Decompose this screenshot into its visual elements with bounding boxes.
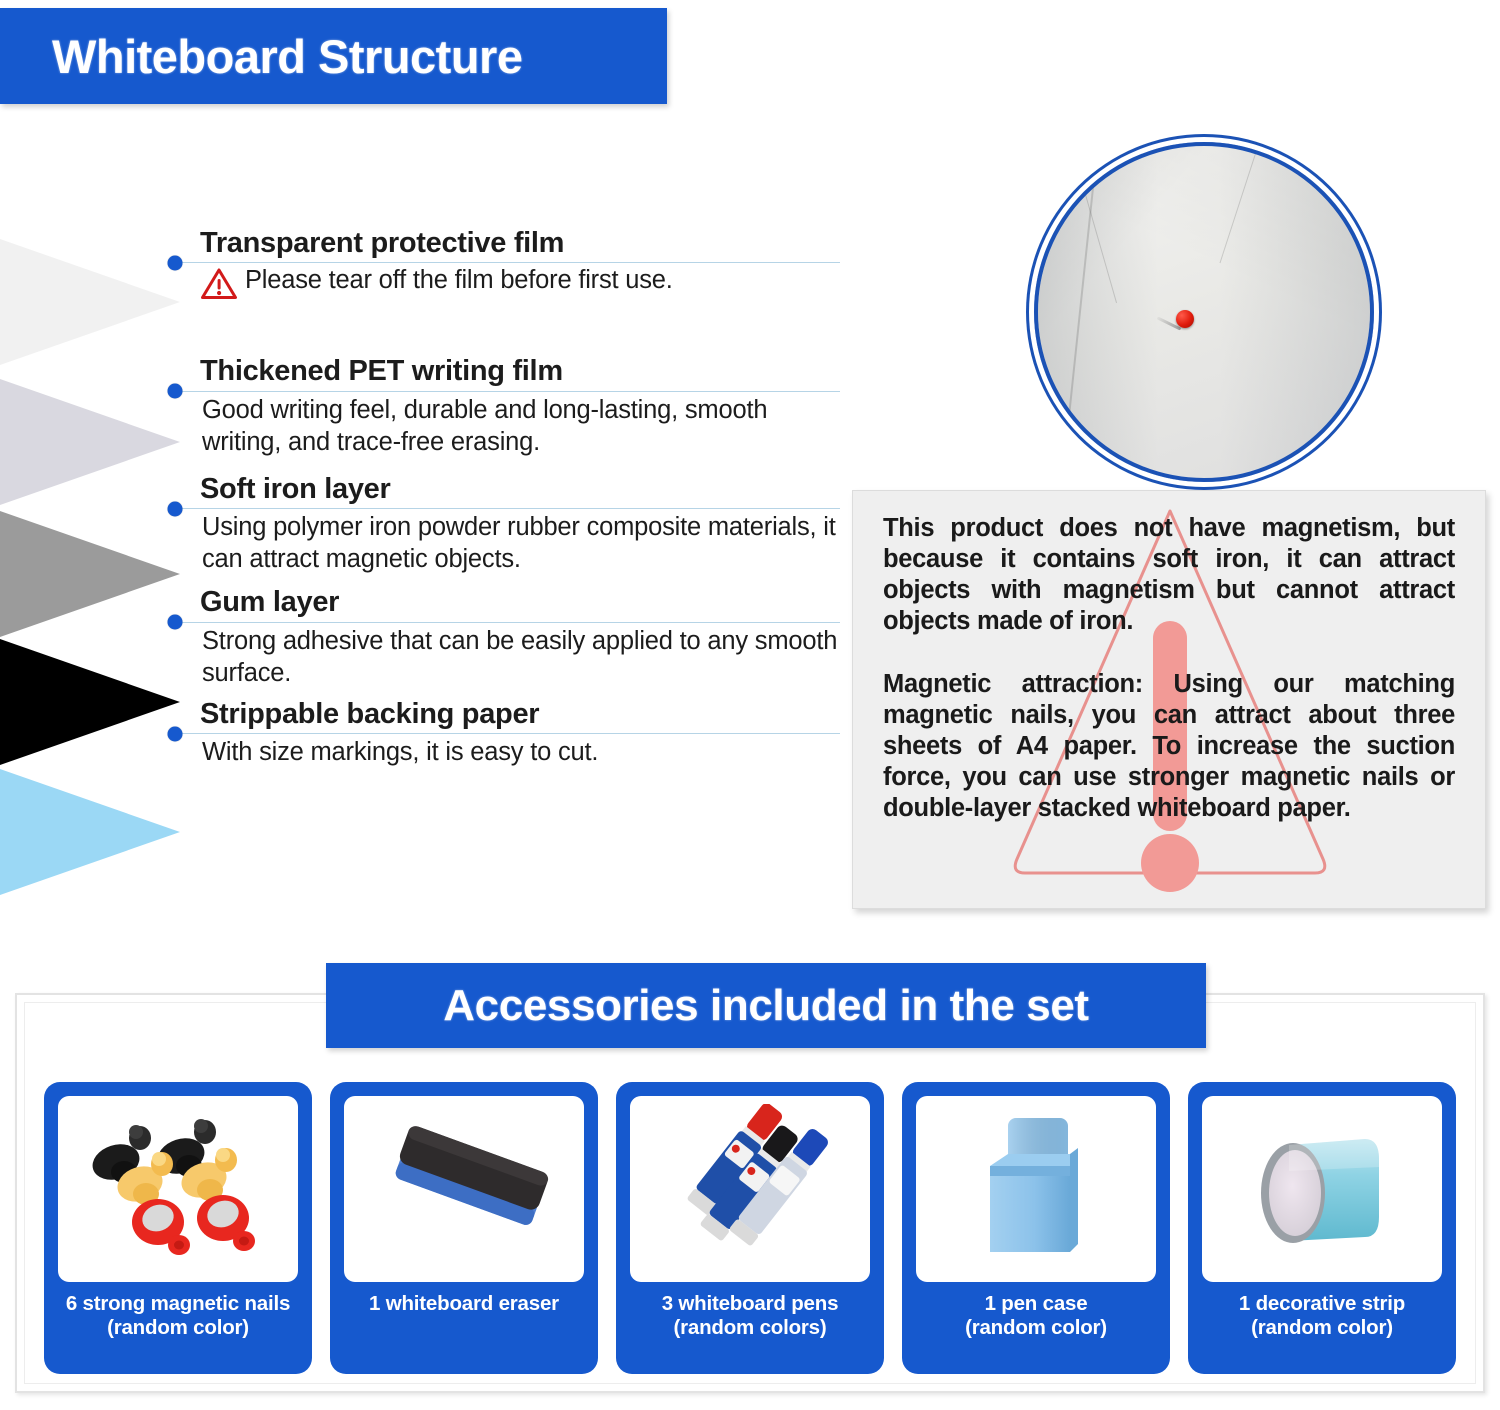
decorative-strip-icon: [1227, 1109, 1417, 1269]
layer-description: Good writing feel, durable and long-last…: [168, 394, 840, 458]
photo-shading-left: [1038, 146, 1158, 482]
layer-item-thickened-pet-writing-film: Thickened PET writing film Good writing …: [168, 356, 840, 474]
accessory-card-whiteboard-eraser[interactable]: 1 whiteboard eraser: [330, 1082, 598, 1374]
layer-item-strippable-backing-paper: Strippable backing paper With size marki…: [168, 699, 840, 768]
accessory-caption: 3 whiteboard pens (random colors): [662, 1292, 839, 1340]
accessory-thumbnail: [916, 1096, 1156, 1282]
layer-description-list: Transparent protective film Please tear …: [168, 228, 840, 768]
layer-divider: [176, 262, 840, 263]
info-paragraph-1: This product does not have magnetism, bu…: [883, 513, 1455, 636]
layer-title: Transparent protective film: [168, 228, 840, 259]
layer-description: Strong adhesive that can be easily appli…: [168, 625, 840, 689]
whiteboard-eraser-icon: [359, 1114, 569, 1264]
magnetic-nails-icon: [78, 1104, 278, 1274]
accessories-card-list: 6 strong magnetic nails (random color) 1…: [44, 1082, 1456, 1374]
accessory-thumbnail: [1202, 1096, 1442, 1282]
layer-bullet-dot: [168, 255, 183, 270]
accessory-thumbnail: [630, 1096, 870, 1282]
accessory-caption: 1 pen case (random color): [965, 1292, 1107, 1340]
accessory-thumbnail: [344, 1096, 584, 1282]
layer-item-soft-iron-layer: Soft iron layer Using polymer iron powde…: [168, 474, 840, 588]
accessory-caption-line1: 1 whiteboard eraser: [369, 1292, 559, 1315]
accessory-caption: 6 strong magnetic nails (random color): [66, 1292, 290, 1340]
layer-bullet-dot: [168, 615, 183, 630]
layer-wedge-transparent-film: [0, 218, 180, 386]
page-title: Whiteboard Structure: [0, 29, 522, 84]
layer-title: Thickened PET writing film: [168, 356, 840, 387]
layer-title: Soft iron layer: [168, 474, 840, 505]
layer-bullet-dot: [168, 726, 183, 741]
accessories-banner: Accessories included in the set: [326, 963, 1206, 1048]
layer-item-gum-layer: Gum layer Strong adhesive that can be ea…: [168, 587, 840, 699]
layer-bullet-dot: [168, 384, 183, 399]
layer-bullet-dot: [168, 501, 183, 516]
layer-wedge-soft-iron: [0, 490, 180, 658]
info-paragraph-2: Magnetic attraction: Using our matching …: [883, 669, 1455, 823]
layer-wedge-backing-paper: [0, 748, 180, 916]
layer-wedge-pet-film: [0, 358, 180, 526]
photo-shading-right: [1220, 146, 1370, 482]
red-push-pin-icon: [1176, 310, 1194, 328]
accessory-caption-line2: (random color): [1239, 1316, 1405, 1340]
layer-divider: [176, 622, 840, 623]
product-infographic: Whiteboard Structure Transparent protect…: [0, 0, 1500, 1410]
info-box-text: This product does not have magnetism, bu…: [853, 491, 1485, 824]
layer-divider: [176, 391, 840, 392]
layer-item-transparent-protective-film: Transparent protective film Please tear …: [168, 228, 840, 356]
layer-divider: [176, 733, 840, 734]
layer-description: Using polymer iron powder rubber composi…: [168, 511, 840, 575]
layer-description: With size markings, it is easy to cut.: [168, 736, 840, 768]
layer-note-text: Please tear off the film before first us…: [245, 265, 673, 296]
accessory-caption-line1: 3 whiteboard pens: [662, 1292, 839, 1315]
accessory-caption: 1 decorative strip (random color): [1239, 1292, 1405, 1340]
accessory-card-magnetic-nails[interactable]: 6 strong magnetic nails (random color): [44, 1082, 312, 1374]
warning-triangle-icon: [200, 267, 238, 300]
whiteboard-pens-icon: [650, 1104, 850, 1274]
layer-warning-note: Please tear off the film before first us…: [168, 265, 840, 300]
accessory-caption-line2: (random color): [66, 1316, 290, 1340]
layer-divider: [176, 508, 840, 509]
accessory-caption: 1 whiteboard eraser: [369, 1292, 559, 1316]
layer-title: Strippable backing paper: [168, 699, 840, 730]
accessory-caption-line1: 1 decorative strip: [1239, 1292, 1405, 1315]
accessory-card-decorative-strip[interactable]: 1 decorative strip (random color): [1188, 1082, 1456, 1374]
magnified-whiteboard-photo: [1034, 142, 1374, 482]
page-title-banner: Whiteboard Structure: [0, 8, 667, 104]
accessory-caption-line1: 6 strong magnetic nails: [66, 1292, 290, 1315]
accessory-caption-line2: (random colors): [662, 1316, 839, 1340]
accessory-caption-line2: (random color): [965, 1316, 1107, 1340]
accessory-caption-line1: 1 pen case: [985, 1292, 1088, 1315]
accessories-heading: Accessories included in the set: [443, 981, 1088, 1031]
magnetism-info-box: This product does not have magnetism, bu…: [852, 490, 1486, 909]
accessory-thumbnail: [58, 1096, 298, 1282]
layer-wedge-gum: [0, 618, 180, 786]
layer-title: Gum layer: [168, 587, 840, 618]
pen-case-icon: [946, 1104, 1126, 1274]
accessory-card-pen-case[interactable]: 1 pen case (random color): [902, 1082, 1170, 1374]
accessory-card-whiteboard-pens[interactable]: 3 whiteboard pens (random colors): [616, 1082, 884, 1374]
